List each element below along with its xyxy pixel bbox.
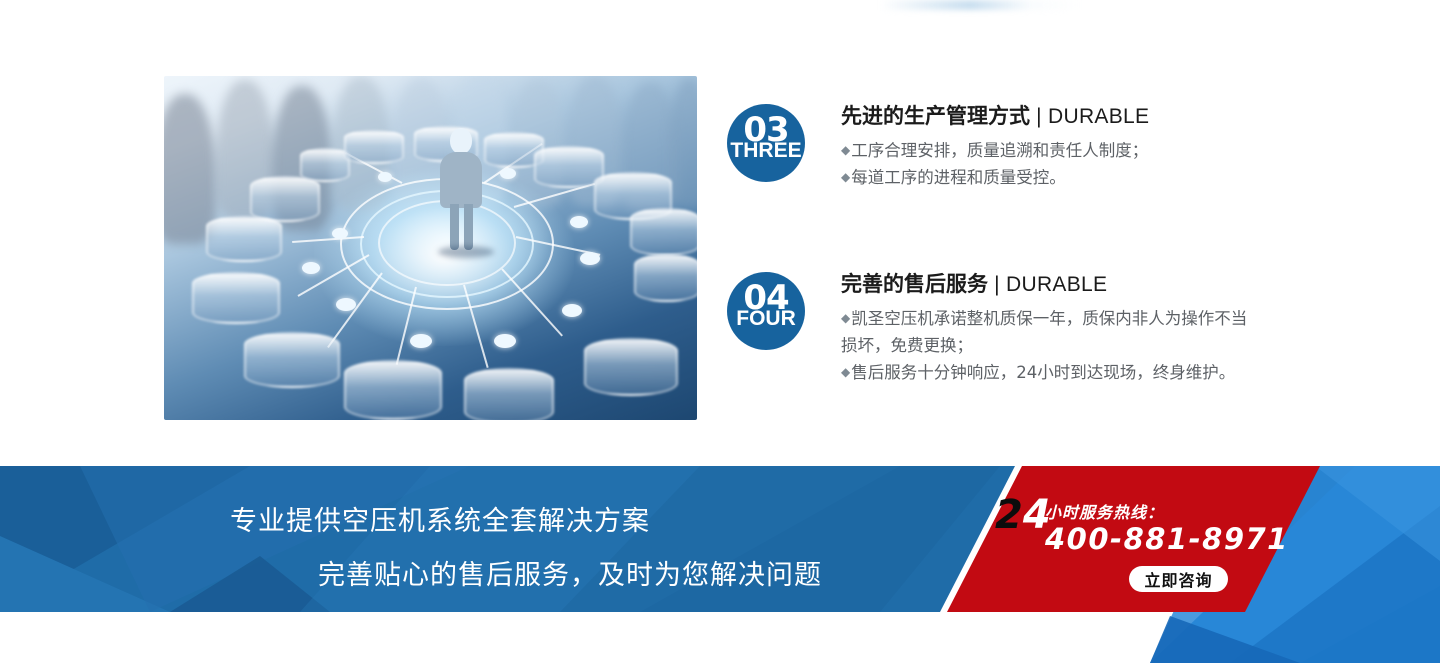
feature-bullet-text: 凯圣空压机承诺整机质保一年，质保内非人为操作不当损坏，免费更换；: [841, 309, 1247, 355]
feature-bullet: ◆工序合理安排，质量追溯和责任人制度；: [841, 138, 1149, 165]
network-concept-photo: [164, 76, 697, 420]
feature-title-04: 完善的售后服务 | DURABLE: [841, 272, 1259, 297]
promo-page: 03 THREE 先进的生产管理方式 | DURABLE ◆工序合理安排，质量追…: [0, 0, 1440, 663]
bullet-diamond-icon: ◆: [841, 143, 850, 157]
feature-bullet-text: 每道工序的进程和质量受控。: [851, 168, 1066, 187]
consult-now-button[interactable]: 立即咨询: [1129, 566, 1228, 592]
person-left-leg: [450, 204, 459, 250]
feature-bullet: ◆凯圣空压机承诺整机质保一年，质保内非人为操作不当损坏，免费更换；: [841, 306, 1259, 359]
feature-badge-03: 03 THREE: [727, 104, 805, 182]
banner-slogan-line1: 专业提供空压机系统全套解决方案: [230, 499, 650, 538]
bullet-diamond-icon: ◆: [841, 311, 850, 325]
consult-now-label: 立即咨询: [1144, 567, 1212, 591]
feature-bullet-text: 工序合理安排，质量追溯和责任人制度；: [851, 141, 1148, 160]
feature-item-04: 04 FOUR 完善的售后服务 | DURABLE ◆凯圣空压机承诺整机质保一年…: [727, 272, 1259, 386]
hotline-24-logo: 24: [995, 495, 1051, 535]
feature-bullet: ◆售后服务十分钟响应，24小时到达现场，终身维护。: [841, 360, 1259, 387]
feature-title-03: 先进的生产管理方式 | DURABLE: [841, 104, 1149, 129]
feature-bullets-04: ◆凯圣空压机承诺整机质保一年，质保内非人为操作不当损坏，免费更换； ◆售后服务十…: [841, 306, 1259, 386]
feature-bullets-03: ◆工序合理安排，质量追溯和责任人制度； ◆每道工序的进程和质量受控。: [841, 138, 1149, 191]
banner-slogan-line2: 完善贴心的售后服务，及时为您解决问题: [318, 553, 822, 592]
feature-item-03: 03 THREE 先进的生产管理方式 | DURABLE ◆工序合理安排，质量追…: [727, 104, 1149, 192]
hotline-phone-number[interactable]: 400-881-8971: [1045, 522, 1289, 556]
bullet-diamond-icon: ◆: [841, 365, 850, 379]
person-body: [440, 152, 482, 208]
person-right-leg: [464, 204, 473, 250]
feature-title-en-03: DURABLE: [1048, 105, 1149, 128]
feature-bullet: ◆每道工序的进程和质量受控。: [841, 165, 1149, 192]
feature-word-03: THREE: [727, 140, 805, 161]
feature-title-sep-04: |: [988, 273, 1006, 296]
hotline-digit-2: 2: [995, 492, 1023, 538]
feature-bullet-text: 售后服务十分钟响应，24小时到达现场，终身维护。: [851, 363, 1235, 382]
feature-word-04: FOUR: [727, 308, 805, 329]
banner-slogan: 专业提供空压机系统全套解决方案 完善贴心的售后服务，及时为您解决问题: [0, 466, 940, 612]
hotline-label: 小时服务热线：: [1045, 499, 1164, 523]
feature-title-sep-03: |: [1030, 105, 1048, 128]
person-head: [450, 128, 472, 154]
feature-title-cn-03: 先进的生产管理方式: [841, 104, 1030, 128]
features-section: 03 THREE 先进的生产管理方式 | DURABLE ◆工序合理安排，质量追…: [0, 0, 1440, 466]
feature-title-cn-04: 完善的售后服务: [841, 272, 988, 296]
bullet-diamond-icon: ◆: [841, 170, 850, 184]
feature-title-en-04: DURABLE: [1006, 273, 1107, 296]
feature-badge-04: 04 FOUR: [727, 272, 805, 350]
